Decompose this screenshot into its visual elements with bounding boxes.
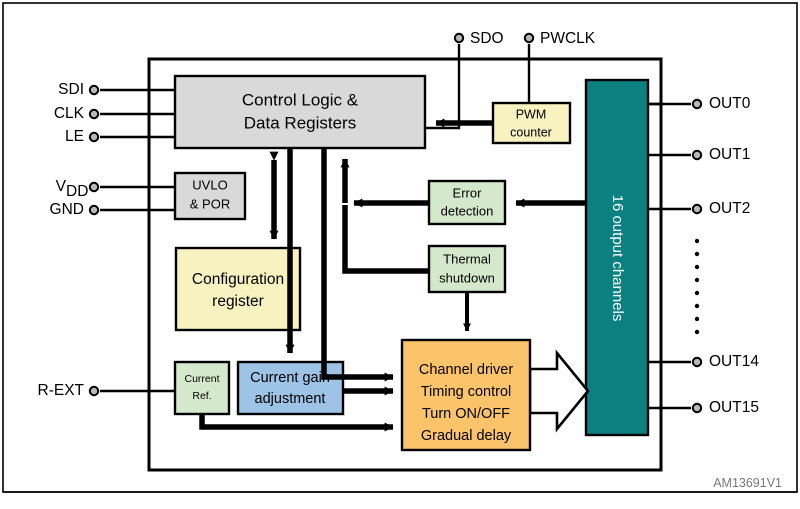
pin-terminal-pwclk bbox=[525, 34, 533, 42]
pin-label-sdo: SDO bbox=[470, 30, 504, 47]
error-detection-line1: Error bbox=[453, 185, 483, 200]
output-pin-wires bbox=[648, 104, 691, 408]
control-logic-line1: Control Logic & bbox=[242, 90, 359, 109]
channel-driver-line2: Timing control bbox=[421, 384, 512, 400]
pin-label-gnd: GND bbox=[50, 201, 84, 218]
channel-driver-to-outputs-arrow bbox=[530, 353, 588, 429]
pin-label-out14: OUT14 bbox=[709, 353, 759, 370]
pin-label-pwclk: PWCLK bbox=[540, 30, 596, 47]
pin-label-out0: OUT0 bbox=[709, 95, 751, 112]
output-ellipsis-icon bbox=[695, 239, 699, 334]
current-gain-line1: Current gain bbox=[250, 370, 330, 386]
pin-label-out15: OUT15 bbox=[709, 399, 759, 416]
current-ref-line1: Current bbox=[184, 373, 219, 385]
arrow-current-ref-to-channel bbox=[202, 414, 393, 427]
diagram-canvas: SDI CLK LE V DD GND R-EXT SDO PWCLK OUT0… bbox=[0, 0, 800, 509]
control-logic-line2: Data Registers bbox=[244, 113, 356, 132]
thermal-shutdown-line2: shutdown bbox=[439, 270, 495, 285]
arrow-control-to-channel-driver bbox=[324, 148, 393, 377]
pin-terminal-sdo bbox=[455, 34, 463, 42]
pin-label-vdd: V DD bbox=[56, 178, 89, 200]
arrow-thermal-to-bus bbox=[345, 205, 429, 271]
left-pin-terminals bbox=[90, 86, 98, 395]
control-logic-block bbox=[175, 76, 425, 148]
configuration-register-block bbox=[176, 248, 300, 330]
thermal-shutdown-line1: Thermal bbox=[443, 251, 491, 266]
output-channels-label: 16 output channels bbox=[609, 195, 626, 322]
channel-driver-line4: Gradual delay bbox=[421, 428, 512, 444]
current-ref-block bbox=[175, 362, 229, 414]
pin-label-out1: OUT1 bbox=[709, 146, 750, 163]
current-ref-line2: Ref. bbox=[192, 390, 211, 402]
config-register-line1: Configuration bbox=[192, 271, 284, 288]
uvlo-line1: UVLO bbox=[192, 177, 227, 192]
pin-label-rext: R-EXT bbox=[38, 382, 85, 399]
block-diagram-figure: SDI CLK LE V DD GND R-EXT SDO PWCLK OUT0… bbox=[0, 0, 800, 509]
uvlo-line2: & POR bbox=[190, 196, 230, 211]
error-detection-line2: detection bbox=[441, 203, 494, 218]
figure-code-label: AM13691V1 bbox=[713, 476, 782, 490]
pin-label-sdi: SDI bbox=[58, 81, 84, 98]
pwm-counter-line2: counter bbox=[510, 125, 552, 139]
current-gain-line2: adjustment bbox=[255, 391, 326, 407]
pwm-counter-line1: PWM bbox=[516, 107, 547, 121]
config-register-line2: register bbox=[212, 293, 264, 310]
pin-label-clk: CLK bbox=[54, 105, 85, 122]
pin-label-le: LE bbox=[65, 128, 84, 145]
input-pin-wires bbox=[100, 90, 175, 391]
channel-driver-line3: Turn ON/OFF bbox=[422, 406, 510, 422]
pin-label-vdd-sub: DD bbox=[66, 183, 88, 200]
pin-label-vdd-main: V bbox=[56, 178, 67, 195]
pin-label-out2: OUT2 bbox=[709, 200, 750, 217]
channel-driver-line1: Channel driver bbox=[419, 362, 513, 378]
